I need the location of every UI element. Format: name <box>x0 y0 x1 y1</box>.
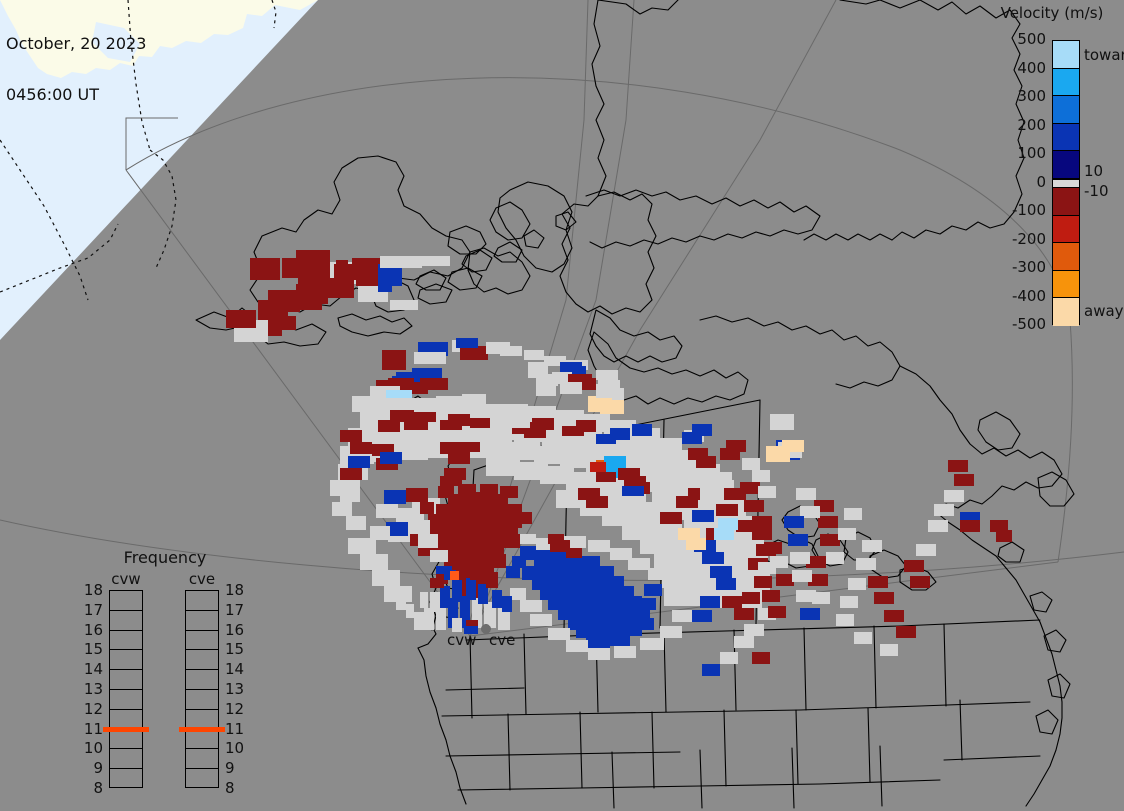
colorbar-segment-away-3 <box>1053 271 1079 299</box>
frequency-tick-right-18: 18 <box>225 581 251 599</box>
frequency-tick-left-14: 14 <box>77 660 103 678</box>
colorbar-tick--100: -100 <box>978 201 1046 219</box>
frequency-cell <box>186 730 218 750</box>
frequency-bar-cve <box>185 590 219 788</box>
frequency-tick-left-8: 8 <box>77 779 103 797</box>
colorbar-segment-away-1 <box>1053 216 1079 244</box>
colorbar-tick-100: 100 <box>978 144 1046 162</box>
frequency-cell <box>110 670 142 690</box>
frequency-cell <box>110 769 142 789</box>
map-station-label-cvw: cvw <box>447 631 476 649</box>
colorbar-segment-toward-1 <box>1053 69 1079 97</box>
frequency-cell <box>186 631 218 651</box>
frequency-marker-cvw <box>103 727 149 732</box>
colorbar-segment-away-0 <box>1053 188 1079 216</box>
colorbar-tick-500: 500 <box>978 30 1046 48</box>
colorbar-segment-away-4 <box>1053 298 1079 326</box>
frequency-tick-right-10: 10 <box>225 739 251 757</box>
timestamp-date: October, 20 2023 <box>6 35 146 52</box>
frequency-tick-right-8: 8 <box>225 779 251 797</box>
frequency-tick-right-14: 14 <box>225 660 251 678</box>
timestamp-time: 0456:00 UT <box>6 86 146 103</box>
frequency-cell <box>110 730 142 750</box>
radar-map-screenshot: October, 20 2023 0456:00 UT cvw cve Velo… <box>0 0 1124 811</box>
radar-site-marker-orange <box>450 571 459 580</box>
colorbar-away-label: away <box>1084 302 1124 320</box>
colorbar-toward-label: toward <box>1084 46 1124 64</box>
frequency-tick-right-15: 15 <box>225 640 251 658</box>
timestamp: October, 20 2023 0456:00 UT <box>6 1 146 137</box>
frequency-bar-cvw <box>109 590 143 788</box>
frequency-cell <box>186 670 218 690</box>
frequency-column-label-cve: cve <box>179 570 225 588</box>
colorbar-segment-toward-2 <box>1053 96 1079 124</box>
frequency-cell <box>186 769 218 789</box>
frequency-tick-right-13: 13 <box>225 680 251 698</box>
colorbar-strip <box>1052 40 1080 325</box>
colorbar-inner-upper-label: 10 <box>1084 162 1103 180</box>
frequency-cell <box>186 650 218 670</box>
frequency-cell <box>110 611 142 631</box>
frequency-tick-right-12: 12 <box>225 700 251 718</box>
colorbar-zero-band <box>1053 179 1079 188</box>
frequency-cell <box>110 690 142 710</box>
frequency-cell <box>186 690 218 710</box>
frequency-tick-left-16: 16 <box>77 621 103 639</box>
colorbar-tick--500: -500 <box>978 315 1046 333</box>
frequency-column-label-cvw: cvw <box>103 570 149 588</box>
frequency-cell <box>186 591 218 611</box>
frequency-tick-left-10: 10 <box>77 739 103 757</box>
colorbar-tick--200: -200 <box>978 230 1046 248</box>
frequency-tick-right-9: 9 <box>225 759 251 777</box>
colorbar-tick--400: -400 <box>978 287 1046 305</box>
colorbar-tick-300: 300 <box>978 87 1046 105</box>
colorbar-segment-toward-0 <box>1053 41 1079 69</box>
frequency-tick-left-9: 9 <box>77 759 103 777</box>
frequency-cell <box>110 591 142 611</box>
colorbar-tick--300: -300 <box>978 258 1046 276</box>
frequency-tick-left-15: 15 <box>77 640 103 658</box>
frequency-cell <box>110 631 142 651</box>
map-station-label-cve: cve <box>489 631 515 649</box>
frequency-tick-left-13: 13 <box>77 680 103 698</box>
frequency-marker-cve <box>179 727 225 732</box>
frequency-tick-left-12: 12 <box>77 700 103 718</box>
velocity-colorbar: Velocity (m/s) 5004003002001000-100-200-… <box>978 2 1124 332</box>
colorbar-tick-0: 0 <box>978 173 1046 191</box>
frequency-cell <box>110 650 142 670</box>
frequency-tick-right-17: 17 <box>225 601 251 619</box>
frequency-title: Frequency <box>75 548 255 567</box>
colorbar-tick-200: 200 <box>978 116 1046 134</box>
frequency-tick-right-16: 16 <box>225 621 251 639</box>
frequency-tick-left-17: 17 <box>77 601 103 619</box>
colorbar-title: Velocity (m/s) <box>982 4 1122 22</box>
frequency-tick-left-11: 11 <box>77 720 103 738</box>
frequency-tick-left-18: 18 <box>77 581 103 599</box>
colorbar-tick-400: 400 <box>978 59 1046 77</box>
frequency-cell <box>110 749 142 769</box>
frequency-cell <box>186 611 218 631</box>
frequency-tick-right-11: 11 <box>225 720 251 738</box>
frequency-legend: Frequency cvw cve 1818171716161515141413… <box>75 548 255 788</box>
colorbar-segment-toward-4 <box>1053 151 1079 179</box>
colorbar-inner-lower-label: -10 <box>1084 182 1109 200</box>
frequency-cell <box>186 749 218 769</box>
scatter-group-alaska <box>226 250 450 342</box>
colorbar-segment-away-2 <box>1053 243 1079 271</box>
colorbar-segment-toward-3 <box>1053 124 1079 152</box>
